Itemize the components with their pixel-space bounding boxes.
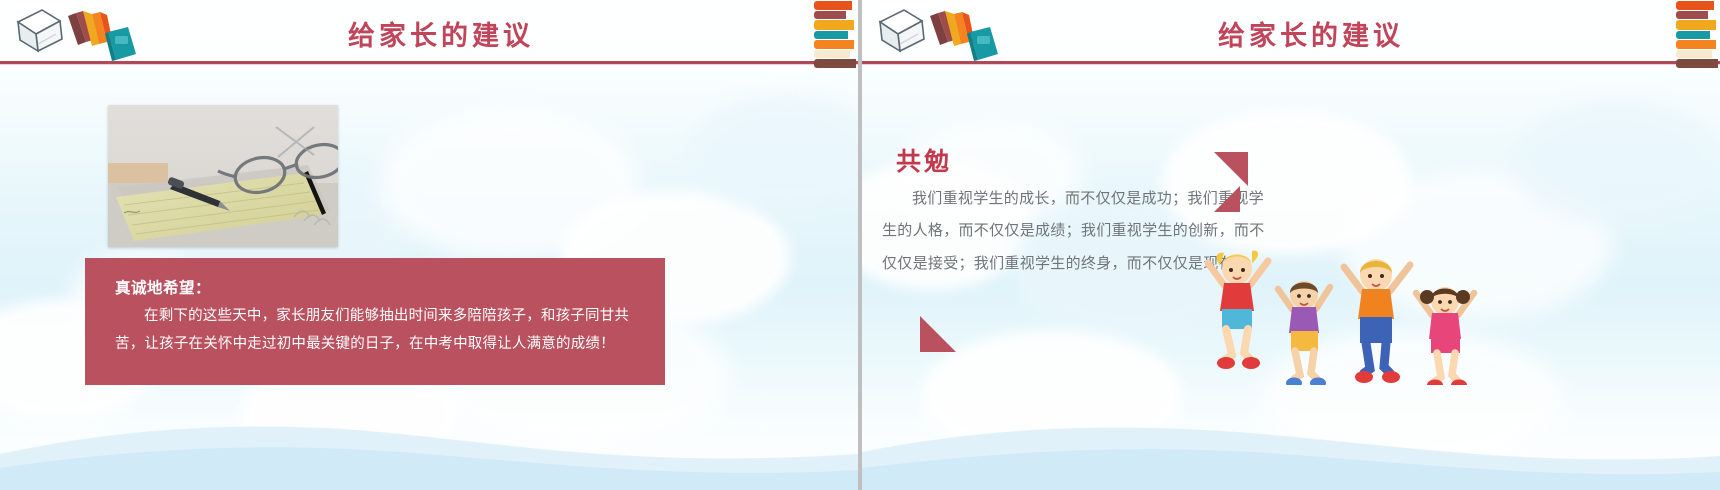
book-stack-icon — [68, 11, 113, 46]
notepad-photo — [108, 105, 338, 247]
red-triangle-icon — [1214, 152, 1248, 186]
child-figure — [1208, 251, 1268, 369]
vertical-book-stack-icon — [814, 0, 858, 64]
slide-2[interactable]: 给家长的建议 — [862, 0, 1720, 490]
child-figure — [1278, 281, 1330, 385]
slide-deck: 给家长的建议 — [0, 0, 1720, 490]
jumping-children-illustration — [1202, 245, 1487, 380]
advice-callout-box: 真诚地希望： 在剩下的这些天中，家长朋友们能够抽出时间来多陪陪孩子，和孩子同甘共… — [85, 258, 665, 385]
teal-book-icon — [105, 27, 136, 61]
open-book-icon — [18, 10, 62, 51]
child-figure — [1344, 259, 1410, 383]
section-heading: 共勉 — [896, 142, 952, 178]
callout-heading: 真诚地希望： — [115, 276, 639, 298]
callout-body: 在剩下的这些天中，家长朋友们能够抽出时间来多陪陪孩子，和孩子同甘共苦，让孩子在关… — [115, 302, 639, 359]
bottom-wave-decoration — [0, 398, 858, 490]
red-triangle-icon — [920, 316, 956, 352]
book-cluster-icon — [12, 4, 137, 62]
red-triangle-icon — [1214, 186, 1240, 212]
slide-1[interactable]: 给家长的建议 — [0, 0, 858, 490]
child-figure — [1416, 287, 1474, 385]
